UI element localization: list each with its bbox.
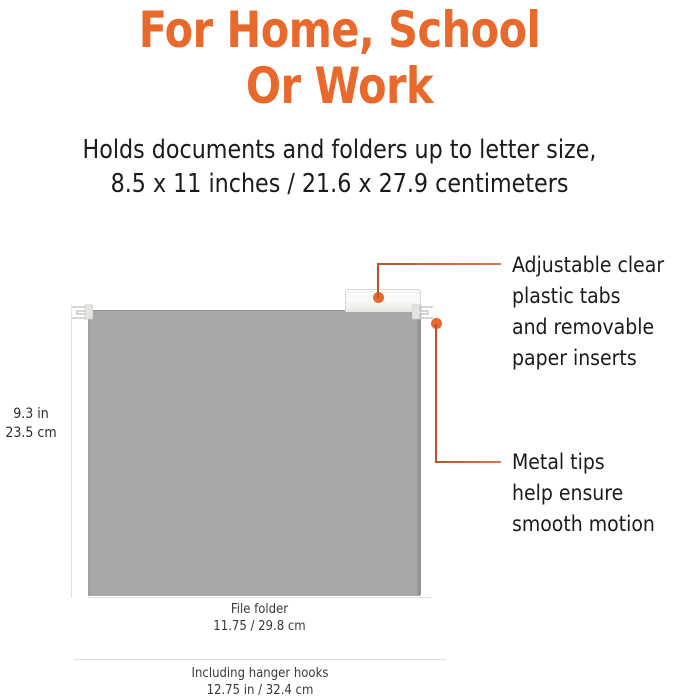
height-guide-line	[71, 305, 72, 598]
infographic-canvas: For Home, School Or Work Holds documents…	[0, 0, 679, 700]
folder-width-value: 11.75 / 29.8 cm	[88, 618, 431, 635]
callout-tabs-line-3: and removable	[512, 312, 664, 343]
file-folder-right-edge	[417, 312, 421, 595]
height-dimension-label: 9.3 in 23.5 cm	[0, 405, 64, 443]
folder-width-title: File folder	[88, 601, 431, 618]
folder-width-dimension-label: File folder 11.75 / 29.8 cm	[88, 601, 431, 635]
overall-width-value: 12.75 in / 32.4 cm	[74, 682, 446, 699]
callout-tabs-line-2: plastic tabs	[512, 281, 664, 312]
callout-metal-tips: Metal tips help ensure smooth motion	[512, 447, 655, 540]
callout-tabs-line-4: paper inserts	[512, 343, 664, 374]
headline: For Home, School Or Work	[27, 2, 652, 114]
subtitle: Holds documents and folders up to letter…	[17, 133, 662, 201]
callout-adjustable-tabs: Adjustable clear plastic tabs and remova…	[512, 250, 664, 374]
callout-tips-line-3: smooth motion	[512, 509, 655, 540]
metal-hook-left-icon	[71, 303, 93, 320]
height-dimension-cm: 23.5 cm	[0, 424, 64, 443]
metal-hook-right-icon	[412, 303, 434, 320]
folder-width-guide-line	[88, 597, 431, 598]
height-dimension-inches: 9.3 in	[0, 405, 64, 424]
headline-line-2: Or Work	[27, 58, 652, 114]
subtitle-line-2: 8.5 x 11 inches / 21.6 x 27.9 centimeter…	[17, 167, 662, 201]
callout-leader-vertical-tips	[435, 324, 437, 462]
overall-width-title: Including hanger hooks	[74, 665, 446, 682]
callout-leader-horizontal-tips	[435, 461, 501, 463]
callout-tabs-line-1: Adjustable clear	[512, 250, 664, 281]
overall-width-dimension-label: Including hanger hooks 12.75 in / 32.4 c…	[74, 665, 446, 699]
callout-leader-vertical-tabs	[377, 264, 379, 298]
subtitle-line-1: Holds documents and folders up to letter…	[17, 133, 662, 167]
callout-tips-line-1: Metal tips	[512, 447, 655, 478]
callout-tips-line-2: help ensure	[512, 478, 655, 509]
overall-width-guide-line	[74, 659, 446, 660]
headline-line-1: For Home, School	[27, 2, 652, 58]
file-folder-body	[88, 310, 420, 596]
callout-leader-horizontal-tabs	[377, 263, 501, 265]
